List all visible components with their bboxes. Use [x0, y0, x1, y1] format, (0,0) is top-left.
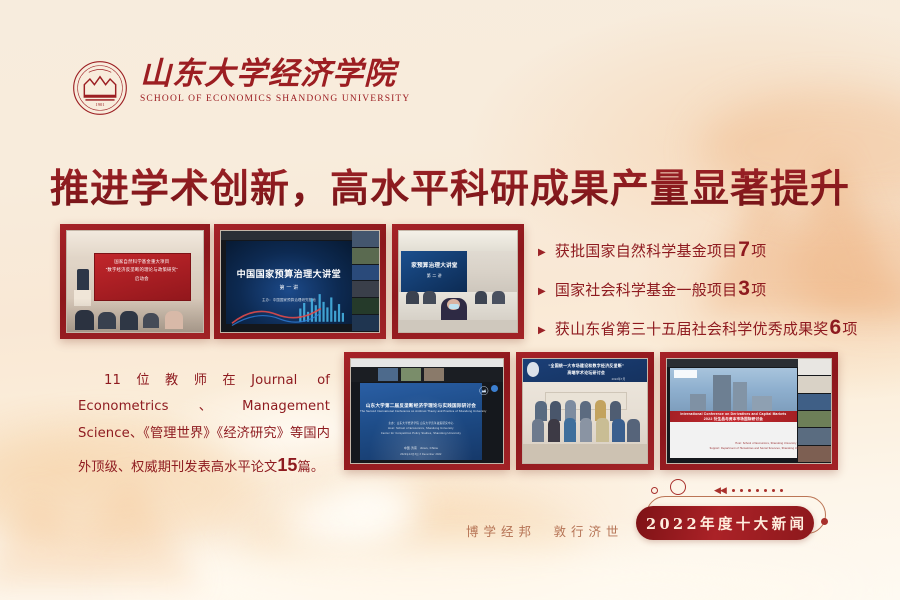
- photo-budget-lecture-online: 中国国家预算治理大讲堂 第 一 讲 主办：中国国家预算治理研究基地: [221, 231, 379, 332]
- paragraph-part-2: 篇。: [298, 460, 325, 475]
- photo-caption-national-fund-kickoff-1: 国家自然科学基金重大项目: [94, 259, 189, 265]
- decor-large-circle-icon: [670, 479, 686, 495]
- cloud-bottom-center: [240, 490, 580, 600]
- photo-caption-group-1: “全国统一大市场建设和数字经济反垄断”: [535, 363, 637, 369]
- university-motto: 博学经邦 敦行济世: [466, 521, 624, 540]
- decor-dot-right-icon: [821, 518, 828, 525]
- photo-caption-lecture-venue-2: 第 二 讲: [401, 273, 467, 279]
- photo-caption-antitrust-6: 中国·济南 Jinan, China: [360, 446, 482, 450]
- highlight-2-text-after: 项: [751, 281, 766, 299]
- photo-frame-group-photo: “全国统一大市场建设和数字经济反垄断” 高端学术论坛研讨会 2022年7月: [516, 352, 654, 470]
- photo-caption-antitrust-3: 主办：山东大学经济学院 山东大学竞争政策研究中心: [360, 421, 482, 425]
- highlight-1-number: 7: [737, 238, 751, 261]
- photo-derivatives-conference: International Conference on Derivatives …: [667, 359, 831, 463]
- highlight-3-number: 6: [829, 316, 843, 339]
- photo-caption-budget-lecture-1: 中国国家预算治理大讲堂: [226, 267, 352, 280]
- photo-frame-national-fund-kickoff: 国家自然科学基金重大项目 “数字经济反垄断的理论与政策研究” 启动会: [60, 224, 210, 339]
- highlight-3-text-before: 获山东省第三十五届社会科学优秀成果奖: [555, 320, 829, 338]
- highlights-list: ▶ 获批国家自然科学基金项目7项 ▶ 国家社会科学基金一般项目3项 ▶ 获山东省…: [538, 238, 868, 355]
- photo-caption-derivatives-1: International Conference on Derivatives …: [670, 412, 796, 416]
- brand-logo-cn: 山东大学经济学院: [140, 58, 410, 91]
- highlight-1-text-after: 项: [751, 242, 766, 260]
- photo-caption-antitrust-7: 2022年12月3日 3 December 2022: [360, 452, 482, 456]
- photo-frame-derivatives-conference: International Conference on Derivatives …: [660, 352, 838, 470]
- triangle-bullet-icon: ▶: [538, 287, 546, 297]
- photo-frame-antitrust-conference: 山东大学第二届反垄断经济学理论与实践国际研讨会 The Second Inter…: [344, 352, 510, 470]
- page-title: 推进学术创新，高水平科研成果产量显著提升: [0, 158, 900, 214]
- university-seal-icon: 1901: [72, 60, 128, 116]
- photo-lecture-venue: 家预算治理大讲堂 第 二 讲: [399, 231, 517, 332]
- highlight-3-text-after: 项: [842, 320, 857, 338]
- photo-caption-antitrust-4: Host: School of Economics, Shandong Univ…: [360, 427, 482, 430]
- poster-canvas: 1901 山东大学经济学院 SCHOOL OF ECONOMICS SHANDO…: [0, 0, 900, 600]
- photo-caption-antitrust-1: 山东大学第二届反垄断经济学理论与实践国际研讨会: [360, 403, 482, 409]
- decor-double-left-arrow-icon: ◀◀: [714, 486, 726, 495]
- decor-dot-row: [732, 489, 783, 492]
- photo-caption-group-2: 高端学术论坛研讨会: [535, 370, 637, 376]
- photo-national-fund-kickoff: 国家自然科学基金重大项目 “数字经济反垄断的理论与政策研究” 启动会: [67, 231, 203, 332]
- cloud-white-puff-2: [330, 484, 420, 532]
- decor-small-circle-icon: [651, 487, 658, 494]
- highlight-item-2: ▶ 国家社会科学基金一般项目3项: [538, 277, 868, 301]
- photo-caption-derivatives-3: Host: School of Economics, Shandong Univ…: [726, 442, 797, 445]
- photo-caption-antitrust-5: Center for Competition Policy Studies, S…: [360, 432, 482, 435]
- photo-antitrust-conference: 山东大学第二届反垄断经济学理论与实践国际研讨会 The Second Inter…: [351, 359, 503, 463]
- video-participant-strip: [798, 359, 831, 463]
- photo-caption-group-3: 2022年7月: [600, 377, 637, 381]
- publications-paragraph: 11位教师在Journal of Econometrics、Management…: [78, 368, 330, 483]
- triangle-bullet-icon: ▶: [538, 326, 546, 336]
- annual-news-badge-group: ◀◀ 2022年度十大新闻: [628, 476, 848, 554]
- highlight-item-1: ▶ 获批国家自然科学基金项目7项: [538, 238, 868, 262]
- photo-caption-derivatives-4: Support: Department of Humanities and So…: [710, 447, 797, 450]
- photo-caption-derivatives-2: 2022 衍生品与资本市场国际研讨会: [670, 417, 796, 422]
- brand-logo: 1901 山东大学经济学院 SCHOOL OF ECONOMICS SHANDO…: [72, 58, 410, 116]
- photo-frame-budget-lecture-online: 中国国家预算治理大讲堂 第 一 讲 主办：中国国家预算治理研究基地: [214, 224, 386, 339]
- photo-group-photo: “全国统一大市场建设和数字经济反垄断” 高端学术论坛研讨会 2022年7月: [523, 359, 647, 463]
- annual-news-badge: 2022年度十大新闻: [636, 506, 814, 540]
- photo-caption-lecture-venue-1: 家预算治理大讲堂: [401, 261, 467, 269]
- highlight-item-3: ▶ 获山东省第三十五届社会科学优秀成果奖6项: [538, 316, 868, 340]
- triangle-bullet-icon: ▶: [538, 248, 546, 258]
- highlight-1-text-before: 获批国家自然科学基金项目: [555, 242, 737, 260]
- photo-caption-national-fund-kickoff-3: 启动会: [94, 276, 189, 282]
- svg-text:1901: 1901: [96, 102, 105, 107]
- highlight-2-number: 3: [737, 277, 751, 300]
- photo-caption-national-fund-kickoff-2: “数字经济反垄断的理论与政策研究”: [94, 267, 189, 273]
- highlight-2-text-before: 国家社会科学基金一般项目: [555, 281, 737, 299]
- paragraph-number: 15: [277, 455, 297, 475]
- photo-caption-antitrust-2: The Second International Conference on A…: [360, 410, 482, 413]
- video-participant-strip: [352, 231, 379, 332]
- cloud-white-puff: [282, 492, 402, 550]
- brand-logo-en: SCHOOL OF ECONOMICS SHANDONG UNIVERSITY: [140, 94, 410, 104]
- photo-frame-lecture-venue: 家预算治理大讲堂 第 二 讲: [392, 224, 524, 339]
